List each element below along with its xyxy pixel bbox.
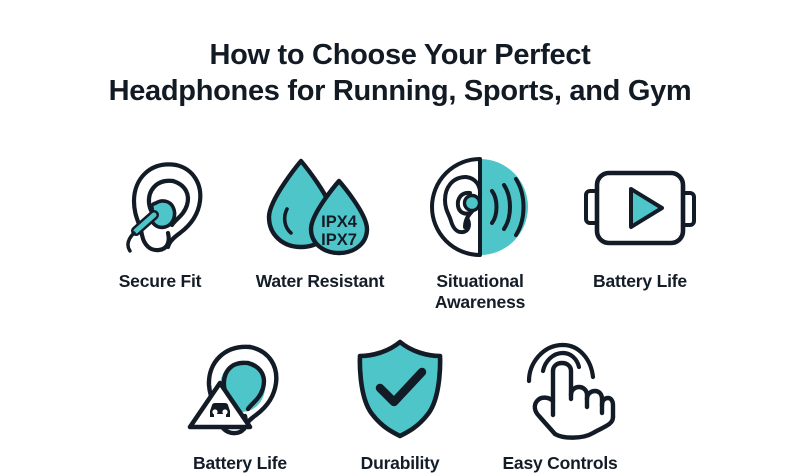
feature-item-water-resistant[interactable]: IPX4 IPX7 Water Resistant: [240, 153, 400, 313]
battery-play-icon: [584, 153, 696, 261]
ear-soundwaves-circle-icon: [428, 153, 532, 261]
hand-tap-icon: [507, 335, 613, 443]
infographic-page: How to Choose Your Perfect Headphones fo…: [0, 0, 800, 450]
ipx-rating-line-1: IPX4: [321, 213, 358, 231]
feature-label-line-1: Durability: [361, 453, 440, 473]
feature-label-line-1: Situational: [436, 271, 523, 291]
page-title: How to Choose Your Perfect Headphones fo…: [40, 37, 760, 109]
feature-label-line-2: Awareness: [435, 292, 525, 313]
feature-label: Durability: [361, 453, 440, 474]
feature-label: Easy Controls: [502, 453, 617, 474]
feature-item-durability[interactable]: Durability: [320, 335, 480, 474]
ear-with-earbud-icon: [110, 153, 210, 261]
feature-label: Situational Awareness: [435, 271, 525, 313]
feature-item-battery-life[interactable]: Battery Life: [560, 153, 720, 313]
title-line-1: How to Choose Your Perfect: [40, 37, 760, 73]
feature-item-battery-life-2[interactable]: Battery Life: [160, 335, 320, 474]
feature-item-easy-controls[interactable]: Easy Controls: [480, 335, 640, 474]
ipx-rating-line-2: IPX7: [321, 231, 357, 249]
feature-item-secure-fit[interactable]: Secure Fit: [80, 153, 240, 313]
feature-label-line-1: Easy Controls: [502, 453, 617, 473]
feature-label-line-1: Secure Fit: [119, 271, 202, 291]
feature-label-line-1: Battery Life: [193, 453, 287, 473]
feature-row-top: Secure Fit IPX4 IPX7 Water Resistant: [0, 153, 800, 313]
feature-label: Battery Life: [193, 453, 287, 474]
title-line-2: Headphones for Running, Sports, and Gym: [40, 73, 760, 109]
feature-label: Secure Fit: [119, 271, 202, 292]
feature-label: Water Resistant: [256, 271, 385, 292]
feature-item-situational-awareness[interactable]: Situational Awareness: [400, 153, 560, 313]
shield-check-icon: [352, 335, 448, 443]
feature-row-bottom: Battery Life Durability: [0, 335, 800, 474]
feature-label-line-1: Water Resistant: [256, 271, 385, 291]
water-droplets-icon: IPX4 IPX7: [261, 153, 379, 261]
feature-label-line-1: Battery Life: [593, 271, 687, 291]
ear-warning-car-icon: [188, 335, 292, 443]
feature-label: Battery Life: [593, 271, 687, 292]
